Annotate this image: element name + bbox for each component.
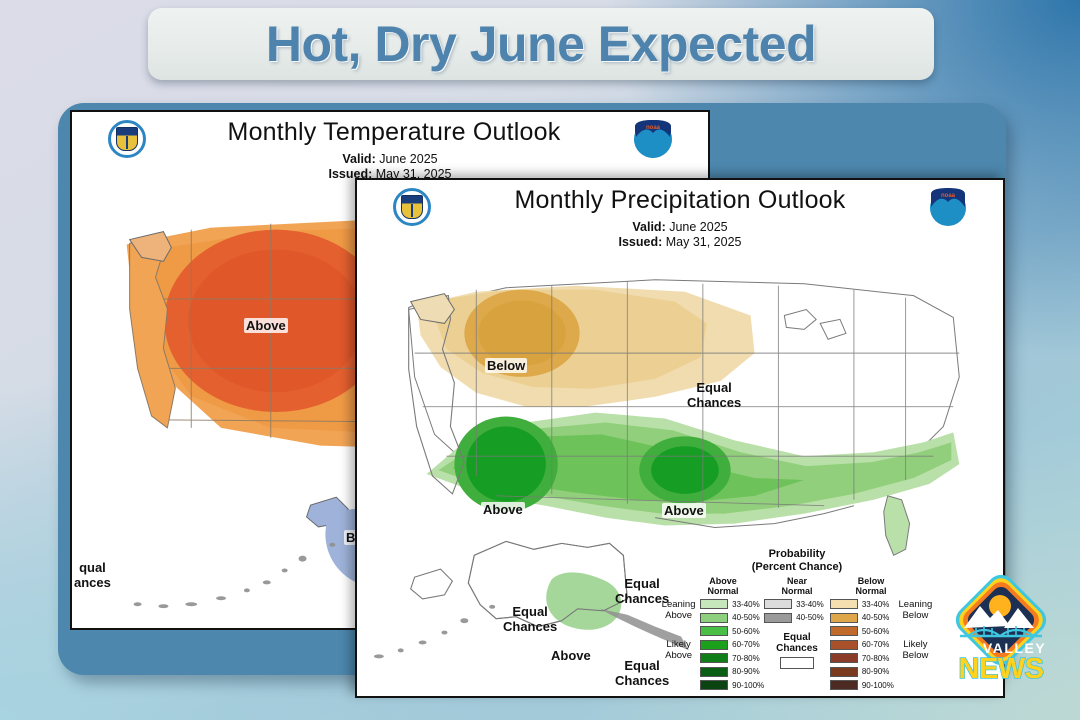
precip-southcentral-above-label: Above [662,503,706,518]
legend-swatch-below-6 [830,680,858,690]
legend-row-near-1: 40-50% [764,612,828,624]
legend-left-groups: Leaning Above Likely Above [657,598,700,693]
legend-row-below-6: 90-100% [830,679,894,691]
svg-text:noaa: noaa [646,125,661,131]
noaa-logo-icon: noaa [927,186,969,230]
legend-body: Leaning Above Likely Above 33-40%40 [657,598,937,693]
legend-row-below-1: 40-50% [830,612,894,624]
precipitation-outlook-panel: Monthly Precipitation Outlook Valid: Jun… [355,178,1005,698]
legend-likely-above-line2: Above [665,650,692,661]
legend-row-below-0: 33-40% [830,598,894,610]
legend-range-above-1: 40-50% [732,613,760,622]
legend-col-near-normal: Near Normal [765,576,829,596]
legend-row-below-4: 70-80% [830,652,894,664]
legend-likely-above: Likely Above [657,622,700,678]
precip-ec-north-line1: Equal [687,380,741,395]
temp-equal-chances-line2: ances [74,575,111,590]
legend-col-above-line1: Above [691,576,755,586]
legend-near-normal-column: 33-40%40-50% Equal Chances [764,598,830,693]
precipitation-panel-meta: Valid: June 2025 Issued: May 31, 2025 [357,220,1003,250]
legend-range-above-4: 70-80% [732,654,760,663]
legend-range-above-5: 80-90% [732,667,760,676]
temp-equal-chances-label: qual ances [74,560,111,590]
legend-row-below-5: 80-90% [830,666,894,678]
legend-swatch-below-0 [830,599,858,609]
svg-text:noaa: noaa [941,193,956,199]
legend-leaning-below: Leaning Below [894,598,937,622]
headline-banner: Hot, Dry June Expected [148,8,934,80]
legend-swatch-above-2 [700,626,728,636]
legend-range-above-3: 60-70% [732,640,760,649]
legend-range-below-3: 60-70% [862,640,890,649]
legend-row-below-3: 60-70% [830,639,894,651]
legend-swatch-below-2 [830,626,858,636]
legend-swatch-near-0 [764,599,792,609]
legend-row-above-4: 70-80% [700,652,764,664]
legend-col-below-line1: Below [839,576,903,586]
legend-title: Probability (Percent Chance) [657,548,937,574]
legend-near-normal-swatches: 33-40%40-50% [764,598,828,624]
legend-col-above-line2: Normal [691,586,755,596]
legend-swatch-above-0 [700,599,728,609]
logo-brand-line2: NEWS [959,653,1044,685]
legend-col-above-normal: Above Normal [691,576,755,596]
legend-range-below-6: 90-100% [862,681,894,690]
legend-row-above-6: 90-100% [700,679,764,691]
temperature-valid-value: June 2025 [379,152,437,166]
legend-leaning-above-line1: Leaning [662,599,696,610]
legend-range-near-0: 33-40% [796,600,824,609]
precipitation-panel-header: Monthly Precipitation Outlook Valid: Jun… [357,180,1003,258]
legend-leaning-below-line1: Leaning [899,599,933,610]
precip-ak-ec-line2: Chances [503,619,557,634]
legend-leaning-above-line2: Above [662,610,696,621]
legend-range-below-1: 40-50% [862,613,890,622]
legend-range-below-2: 50-60% [862,627,890,636]
legend-row-near-0: 33-40% [764,598,828,610]
precipitation-issued-label: Issued: [619,235,663,249]
precipitation-issued-value: May 31, 2025 [666,235,742,249]
headline-text: Hot, Dry June Expected [266,15,816,73]
legend-range-below-4: 70-80% [862,654,890,663]
legend-row-above-3: 60-70% [700,639,764,651]
probability-legend: Probability (Percent Chance) Above Norma… [657,548,937,693]
legend-below-normal-swatches: 33-40%40-50%50-60%60-70%70-80%80-90%90-1… [830,598,894,693]
legend-equal-chances-swatch [780,657,814,669]
legend-range-below-5: 80-90% [862,667,890,676]
legend-swatch-above-3 [700,640,728,650]
legend-swatch-below-5 [830,667,858,677]
legend-swatch-below-4 [830,653,858,663]
temperature-panel-title: Monthly Temperature Outlook [72,118,708,147]
legend-title-line1: Probability [657,548,937,561]
precipitation-valid-value: June 2025 [669,220,727,234]
temp-above-label: Above [244,318,288,333]
legend-equal-chances-text: Equal Chances [764,632,830,654]
screenshot-root: Hot, Dry June Expected Monthly Temperatu… [0,0,1080,720]
legend-swatch-below-3 [830,640,858,650]
legend-likely-below-line2: Below [902,650,928,661]
precip-alaska-above-label: Above [549,648,593,663]
legend-row-above-0: 33-40% [700,598,764,610]
legend-row-above-5: 80-90% [700,666,764,678]
temp-equal-chances-line1: qual [74,560,111,575]
legend-range-above-0: 33-40% [732,600,760,609]
legend-swatch-above-5 [700,667,728,677]
legend-range-above-2: 50-60% [732,627,760,636]
legend-row-above-1: 40-50% [700,612,764,624]
legend-likely-below-line1: Likely [902,639,928,650]
precipitation-panel-title: Monthly Precipitation Outlook [357,186,1003,215]
precipitation-valid-label: Valid: [632,220,665,234]
precip-ec-north-line2: Chances [687,395,741,410]
legend-range-near-1: 40-50% [796,613,824,622]
legend-col-near-line1: Near [765,576,829,586]
legend-above-normal-swatches: 33-40%40-50%50-60%60-70%70-80%80-90%90-1… [700,598,764,693]
precip-ak-ec-line1: Equal [503,604,557,619]
lc-valley-news-logo: LC VALLEY NEWS [938,562,1064,694]
legend-col-below-normal: Below Normal [839,576,903,596]
legend-eq-line1: Equal [764,632,830,643]
legend-swatch-above-1 [700,613,728,623]
legend-swatch-above-6 [700,680,728,690]
legend-title-line2: (Percent Chance) [657,561,937,574]
noaa-logo-icon: noaa [632,118,674,162]
legend-swatch-below-1 [830,613,858,623]
legend-eq-line2: Chances [764,643,830,654]
legend-row-below-2: 50-60% [830,625,894,637]
legend-column-headers: Above Normal Near Normal Below Normal [657,576,937,596]
legend-swatch-near-1 [764,613,792,623]
legend-swatch-above-4 [700,653,728,663]
legend-likely-above-line1: Likely [665,639,692,650]
legend-leaning-above: Leaning Above [657,598,700,622]
legend-range-above-6: 90-100% [732,681,764,690]
temperature-valid-label: Valid: [342,152,375,166]
legend-row-above-2: 50-60% [700,625,764,637]
precip-northwest-below-label: Below [485,358,527,373]
legend-range-below-0: 33-40% [862,600,890,609]
legend-col-below-line2: Normal [839,586,903,596]
precip-southwest-above-label: Above [481,502,525,517]
legend-leaning-below-line2: Below [899,610,933,621]
precip-equal-chances-north-label: Equal Chances [687,380,741,410]
legend-col-near-line2: Normal [765,586,829,596]
precipitation-map-body: Below Equal Chances Above Above Equal Ch… [357,258,1003,696]
legend-right-groups: Leaning Below Likely Below [894,598,937,693]
legend-likely-below: Likely Below [894,622,937,678]
precip-alaska-equal-chances-label: Equal Chances [503,604,557,634]
